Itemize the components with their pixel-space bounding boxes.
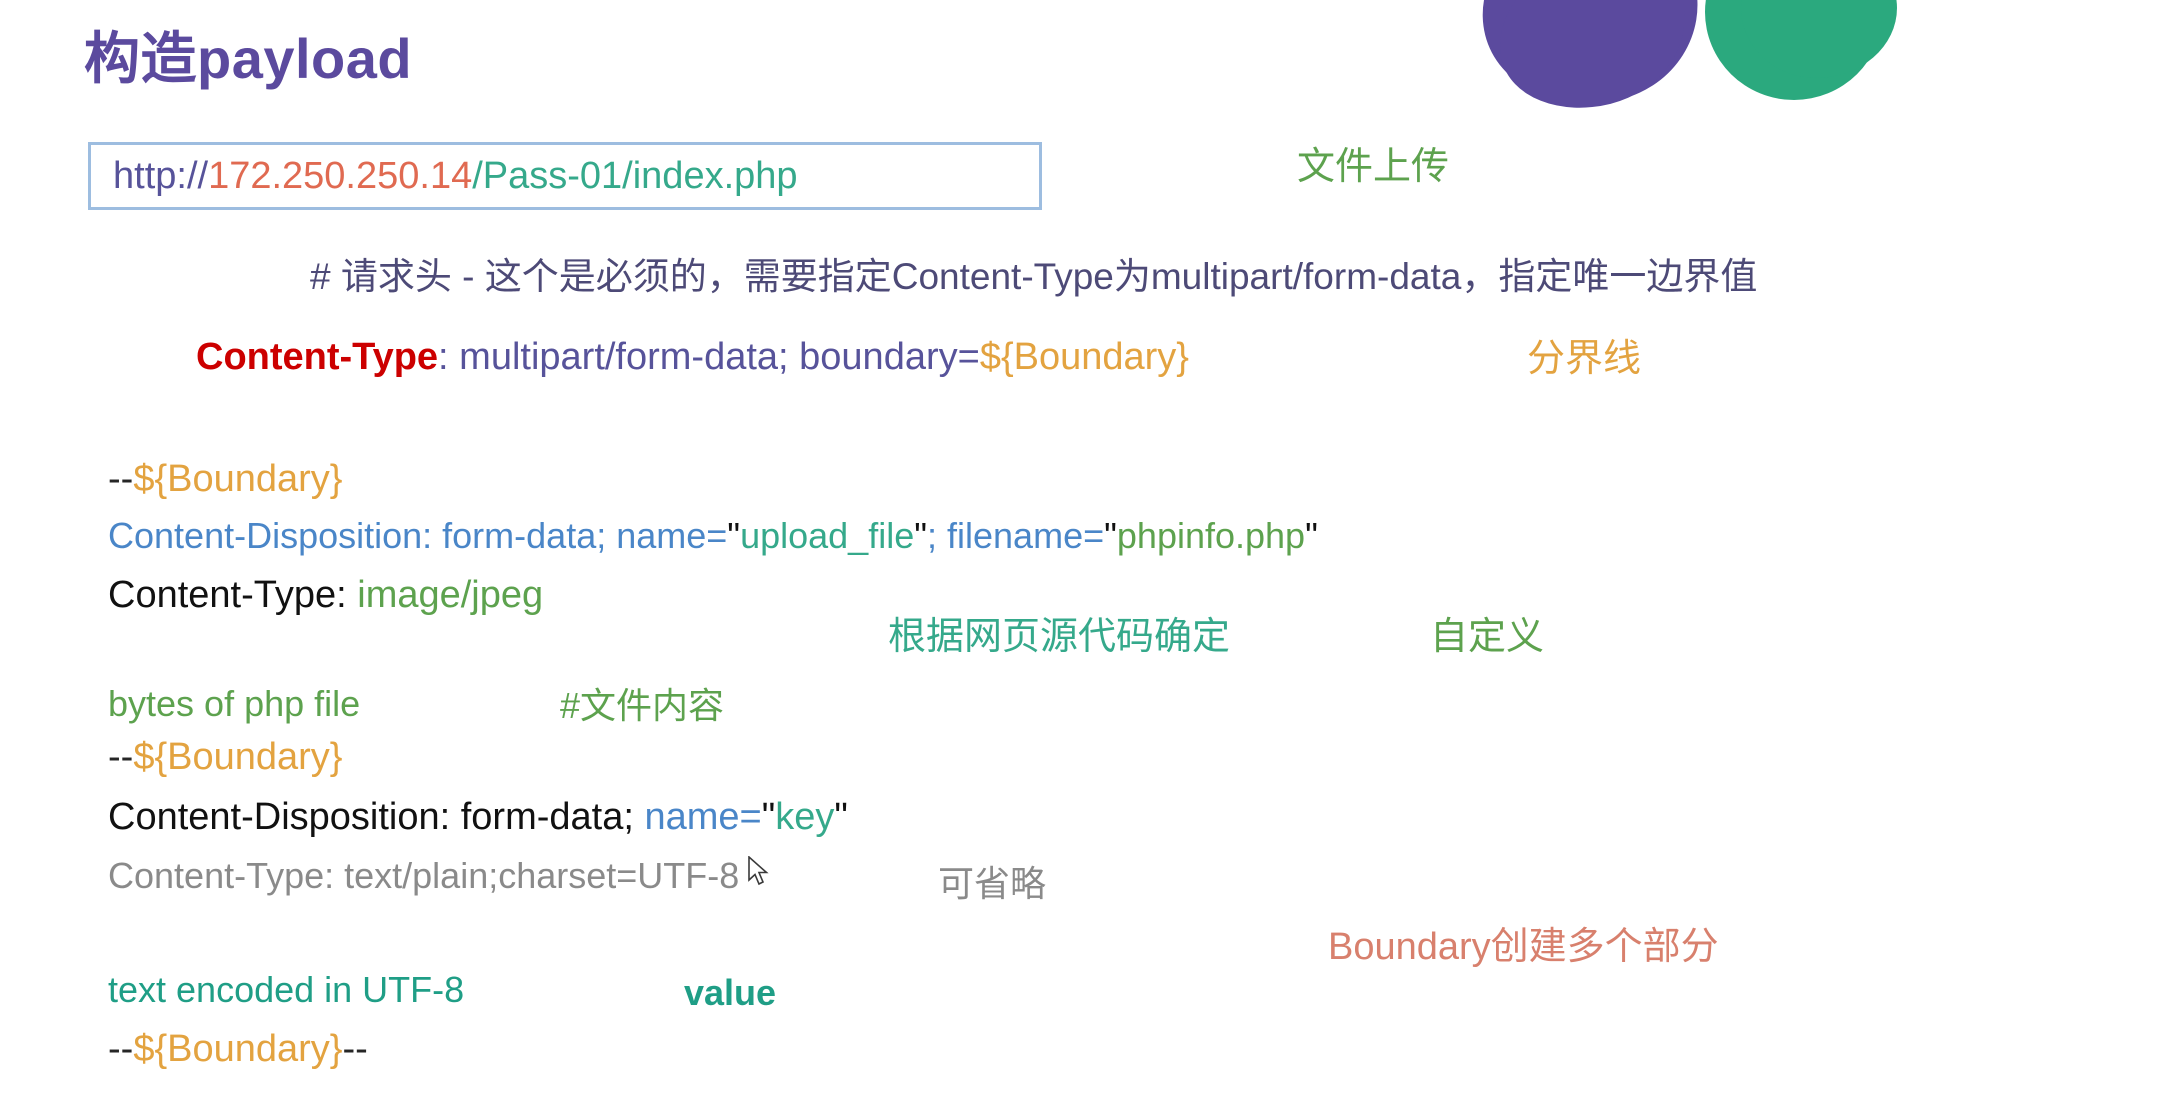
boundary-dashes: -- xyxy=(108,458,133,500)
annotation-optional: 可省略 xyxy=(938,866,1046,902)
body-file-bytes-placeholder: bytes of php file xyxy=(108,686,360,722)
url-path: /Pass-01/index.php xyxy=(472,155,797,197)
annotation-from-source-code: 根据网页源代码确定 xyxy=(888,618,1230,656)
boundary-token: ${Boundary} xyxy=(133,1028,342,1070)
quote-open: " xyxy=(762,796,776,838)
quote-open: " xyxy=(727,515,740,556)
request-header-content-type: Content-Type: multipart/form-data; bound… xyxy=(196,338,1189,376)
disposition-prefix: Content-Disposition: form-data; xyxy=(108,796,644,838)
mouse-pointer-icon xyxy=(748,856,770,888)
page-title: 构造payload xyxy=(84,14,412,95)
annotation-custom: 自定义 xyxy=(1430,618,1544,656)
teal-blob-shape xyxy=(1705,0,1883,100)
body-boundary-open-2: --${Boundary} xyxy=(108,738,343,776)
body-content-disposition-2: Content-Disposition: form-data; name="ke… xyxy=(108,798,848,836)
boundary-dashes: -- xyxy=(108,736,133,778)
annotation-value: value xyxy=(684,975,776,1011)
quote-close-2: " xyxy=(1305,515,1318,556)
disposition-name-value: key xyxy=(775,796,834,838)
body-content-type-2: Content-Type: text/plain;charset=UTF-8 xyxy=(108,858,739,894)
disposition-name-value: upload_file xyxy=(740,515,914,556)
boundary-token: ${Boundary} xyxy=(980,336,1189,378)
purple-blob-shape xyxy=(1462,0,1718,127)
body-boundary-close: --${Boundary}-- xyxy=(108,1030,368,1068)
body-text-utf8-placeholder: text encoded in UTF-8 xyxy=(108,972,464,1008)
annotation-separator: 分界线 xyxy=(1527,340,1641,378)
quote-close: " xyxy=(914,515,927,556)
body-content-disposition-1: Content-Disposition: form-data; name="up… xyxy=(108,518,1318,554)
disposition-name-key: name= xyxy=(644,796,761,838)
disposition-middle: ; filename= xyxy=(927,515,1104,556)
url-host: 172.250.250.14 xyxy=(208,155,472,197)
header-value: : multipart/form-data; boundary= xyxy=(438,336,980,378)
url-bar[interactable]: http://172.250.250.14/Pass-01/index.php xyxy=(88,142,1042,210)
comment-request-header: # 请求头 - 这个是必须的，需要指定Content-Type为multipar… xyxy=(310,258,1757,295)
body-boundary-open-1: --${Boundary} xyxy=(108,460,343,498)
content-type-value: image/jpeg xyxy=(357,574,543,616)
boundary-token: ${Boundary} xyxy=(133,736,342,778)
annotation-multi-part: Boundary创建多个部分 xyxy=(1328,928,1719,966)
url-text: http://172.250.250.14/Pass-01/index.php xyxy=(113,157,798,195)
boundary-dashes-left: -- xyxy=(108,1028,133,1070)
annotation-file-content: #文件内容 xyxy=(560,688,724,724)
boundary-token: ${Boundary} xyxy=(133,458,342,500)
header-key: Content-Type xyxy=(196,336,438,378)
disposition-filename-value: phpinfo.php xyxy=(1117,515,1305,556)
url-scheme: http:// xyxy=(113,155,208,197)
quote-close: " xyxy=(834,796,848,838)
body-content-type-1: Content-Type: image/jpeg xyxy=(108,576,543,614)
boundary-dashes-right: -- xyxy=(343,1028,368,1070)
quote-open-2: " xyxy=(1104,515,1117,556)
disposition-prefix: Content-Disposition: form-data; name= xyxy=(108,515,727,556)
content-type-key: Content-Type: xyxy=(108,574,357,616)
annotation-file-upload: 文件上传 xyxy=(1297,148,1449,186)
